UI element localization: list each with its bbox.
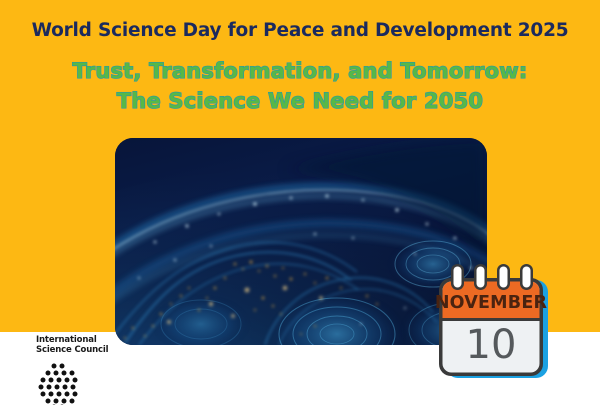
logo-wordmark-line-2: Science Council [36, 346, 156, 356]
international-science-council-logo: International Science Council [36, 336, 156, 405]
page-title: World Science Day for Peace and Developm… [0, 20, 600, 41]
subtitle-line-2: The Science We Need for 2050 [0, 86, 600, 116]
calendar-day-label: 10 [466, 322, 517, 368]
poster-subtitle: Trust, Transformation, and Tomorrow: The… [0, 56, 600, 116]
calendar-illustration: NOVEMBER 10 [434, 262, 558, 384]
calendar-month-label: NOVEMBER [435, 293, 548, 313]
poster-canvas: World Science Day for Peace and Developm… [0, 0, 600, 405]
logo-dot-pattern-icon [36, 362, 84, 405]
subtitle-line-1: Trust, Transformation, and Tomorrow: [0, 56, 600, 86]
night-earth-data-flows-image [115, 138, 487, 345]
earth-illustration [115, 138, 487, 345]
calendar-icon: NOVEMBER 10 [434, 262, 558, 384]
